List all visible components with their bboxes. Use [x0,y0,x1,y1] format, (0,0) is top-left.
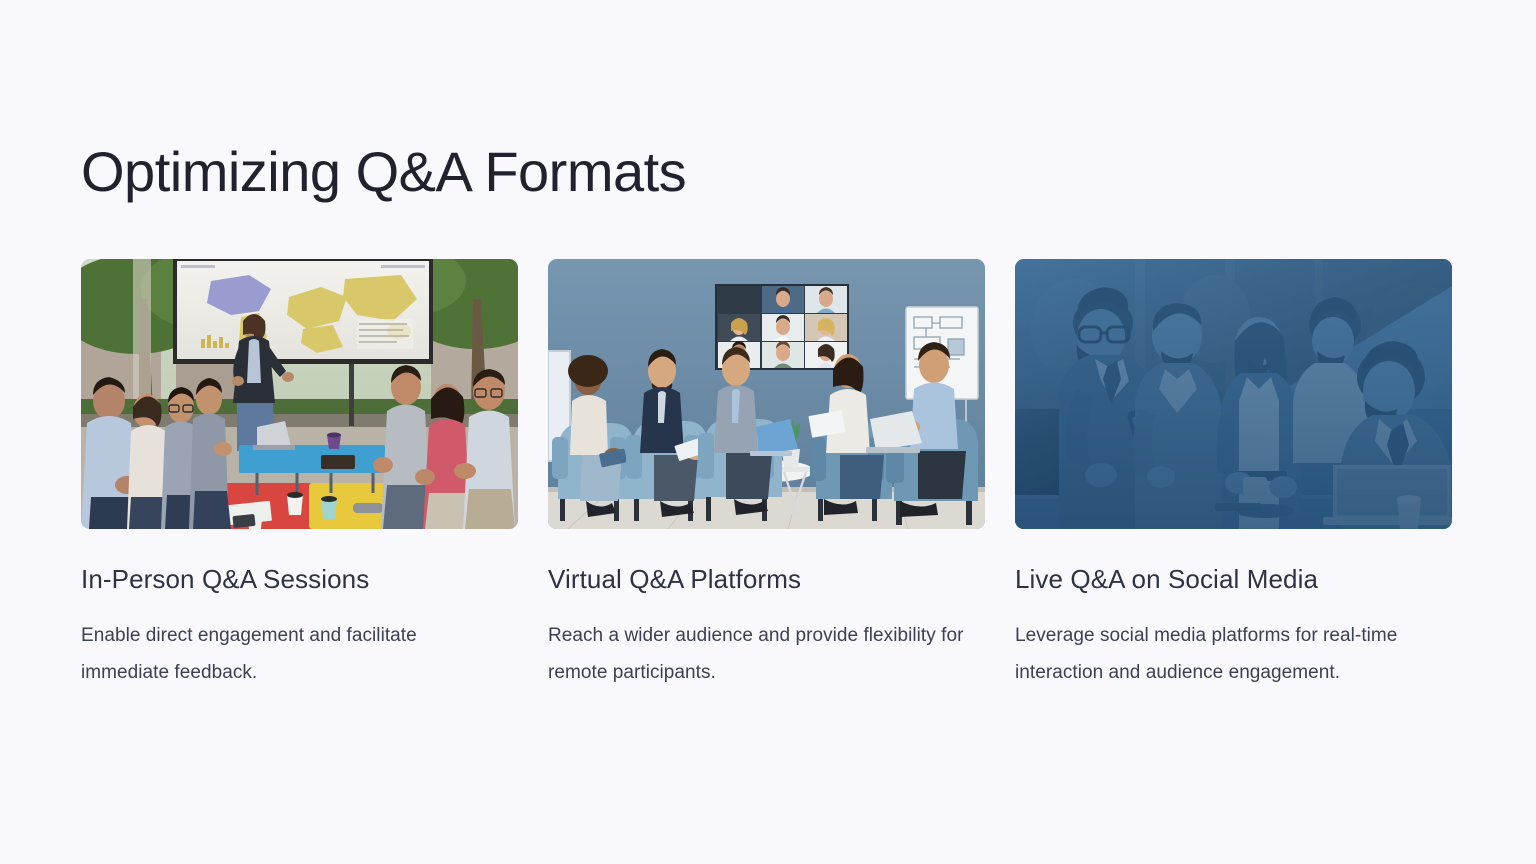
virtual-meeting-illustration [548,259,985,529]
card-image-social [1015,259,1452,529]
card-description: Leverage social media platforms for real… [1015,617,1445,691]
card-description: Reach a wider audience and provide flexi… [548,617,968,691]
card-image-virtual [548,259,985,529]
card-social: Live Q&A on Social Media Leverage social… [1015,259,1452,691]
in-person-session-illustration [81,259,518,529]
slide: Optimizing Q&A Formats [0,0,1536,864]
card-grid: In-Person Q&A Sessions Enable direct eng… [81,259,1456,691]
card-image-in-person [81,259,518,529]
card-in-person: In-Person Q&A Sessions Enable direct eng… [81,259,518,691]
social-media-team-illustration [1015,259,1452,529]
card-virtual: Virtual Q&A Platforms Reach a wider audi… [548,259,985,691]
card-title: Live Q&A on Social Media [1015,564,1452,595]
card-title: In-Person Q&A Sessions [81,564,518,595]
card-description: Enable direct engagement and facilitate … [81,617,501,691]
page-title: Optimizing Q&A Formats [81,141,686,203]
card-title: Virtual Q&A Platforms [548,564,985,595]
